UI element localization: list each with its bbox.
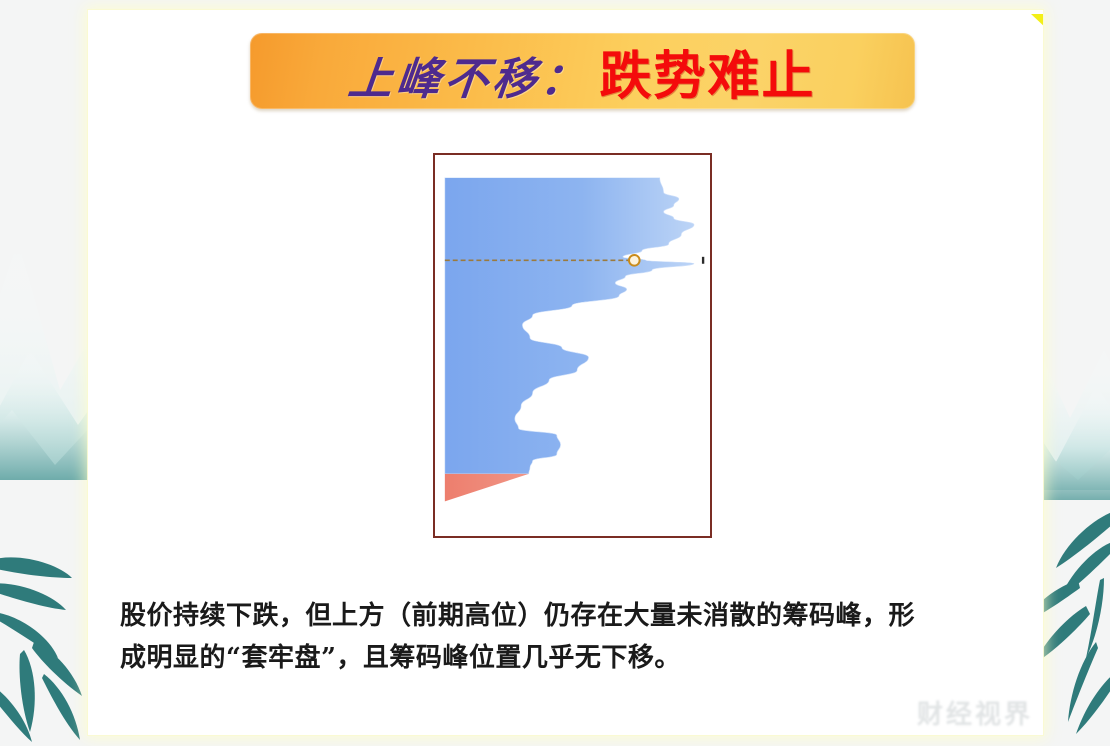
slide-card: 上峰不移： 跌势难止 — [88, 10, 1043, 735]
locked-chips-area — [445, 178, 694, 474]
title-text-emphasis: 跌势难止 — [599, 34, 815, 109]
locked-chips-path — [445, 178, 694, 474]
profit-chips-path — [445, 474, 529, 502]
caption-block: 股价持续下跌，但上方（前期高位）仍存在大量未消散的筹码峰，形 成明显的“套牢盘”… — [120, 595, 1010, 679]
profit-chips-area — [445, 474, 529, 502]
corner-accent-triangle — [1031, 14, 1043, 28]
title-text-primary: 上峰不移： — [346, 43, 593, 107]
watermark-text: 财经视界 — [917, 694, 1033, 731]
caption-line-1: 股价持续下跌，但上方（前期高位）仍存在大量未消散的筹码峰，形 — [120, 595, 1010, 637]
caption-line-2: 成明显的“套牢盘”，且筹码峰位置几乎无下移。 — [120, 637, 1010, 679]
title-banner-inner: 上峰不移： 跌势难止 — [349, 34, 815, 109]
current-price-marker-circle[interactable] — [629, 255, 640, 266]
chip-distribution-chart — [433, 153, 712, 538]
title-banner: 上峰不移： 跌势难止 — [250, 33, 915, 109]
chip-distribution-svg — [435, 155, 710, 536]
